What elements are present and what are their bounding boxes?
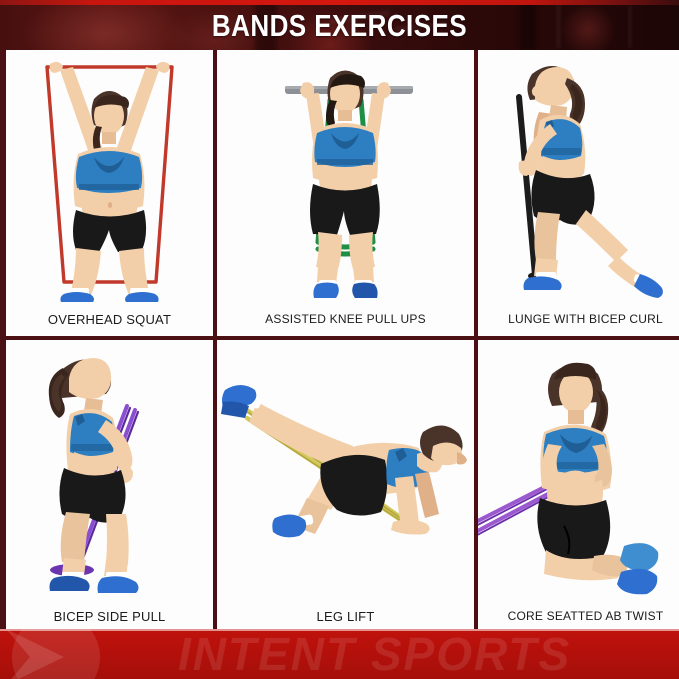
exercise-label: CORE SEATTED AB TWIST <box>478 599 679 633</box>
exercise-label: OVERHEAD SQUAT <box>6 302 213 336</box>
lunge-with-bicep-curl-illustration <box>478 50 679 302</box>
exercise-card-leg-lift[interactable]: LEG LIFT <box>217 340 474 633</box>
header-banner: BANDS EXERCISES <box>0 0 679 50</box>
bicep-side-pull-illustration <box>6 340 213 599</box>
exercise-card-bicep-side-pull[interactable]: BICEP SIDE PULL <box>6 340 213 633</box>
header-texture-shape <box>628 6 632 48</box>
footer-watermark: INTENT SPORTS <box>0 629 679 679</box>
core-seatted-ab-twist-illustration <box>478 340 679 599</box>
exercise-card-lunge-with-bicep-curl[interactable]: LUNGE WITH BICEP CURL <box>478 50 679 336</box>
exercise-label: ASSISTED KNEE PULL UPS <box>217 302 474 336</box>
overhead-squat-illustration <box>6 50 213 302</box>
assisted-knee-pull-ups-illustration <box>217 50 474 302</box>
page-title: BANDS EXERCISES <box>54 5 624 47</box>
exercise-card-assisted-knee-pull-ups[interactable]: ASSISTED KNEE PULL UPS <box>217 50 474 336</box>
exercise-label: BICEP SIDE PULL <box>6 599 213 633</box>
exercise-card-overhead-squat[interactable]: OVERHEAD SQUAT <box>6 50 213 336</box>
exercise-grid: OVERHEAD SQUAT <box>0 50 679 629</box>
exercise-label: LEG LIFT <box>217 599 474 633</box>
exercise-card-core-seatted-ab-twist[interactable]: CORE SEATTED AB TWIST <box>478 340 679 633</box>
leg-lift-illustration <box>217 340 474 599</box>
exercise-label: LUNGE WITH BICEP CURL <box>478 302 679 336</box>
footer-banner: INTENT SPORTS <box>0 629 679 679</box>
infographic-poster: BANDS EXERCISES <box>0 0 679 679</box>
